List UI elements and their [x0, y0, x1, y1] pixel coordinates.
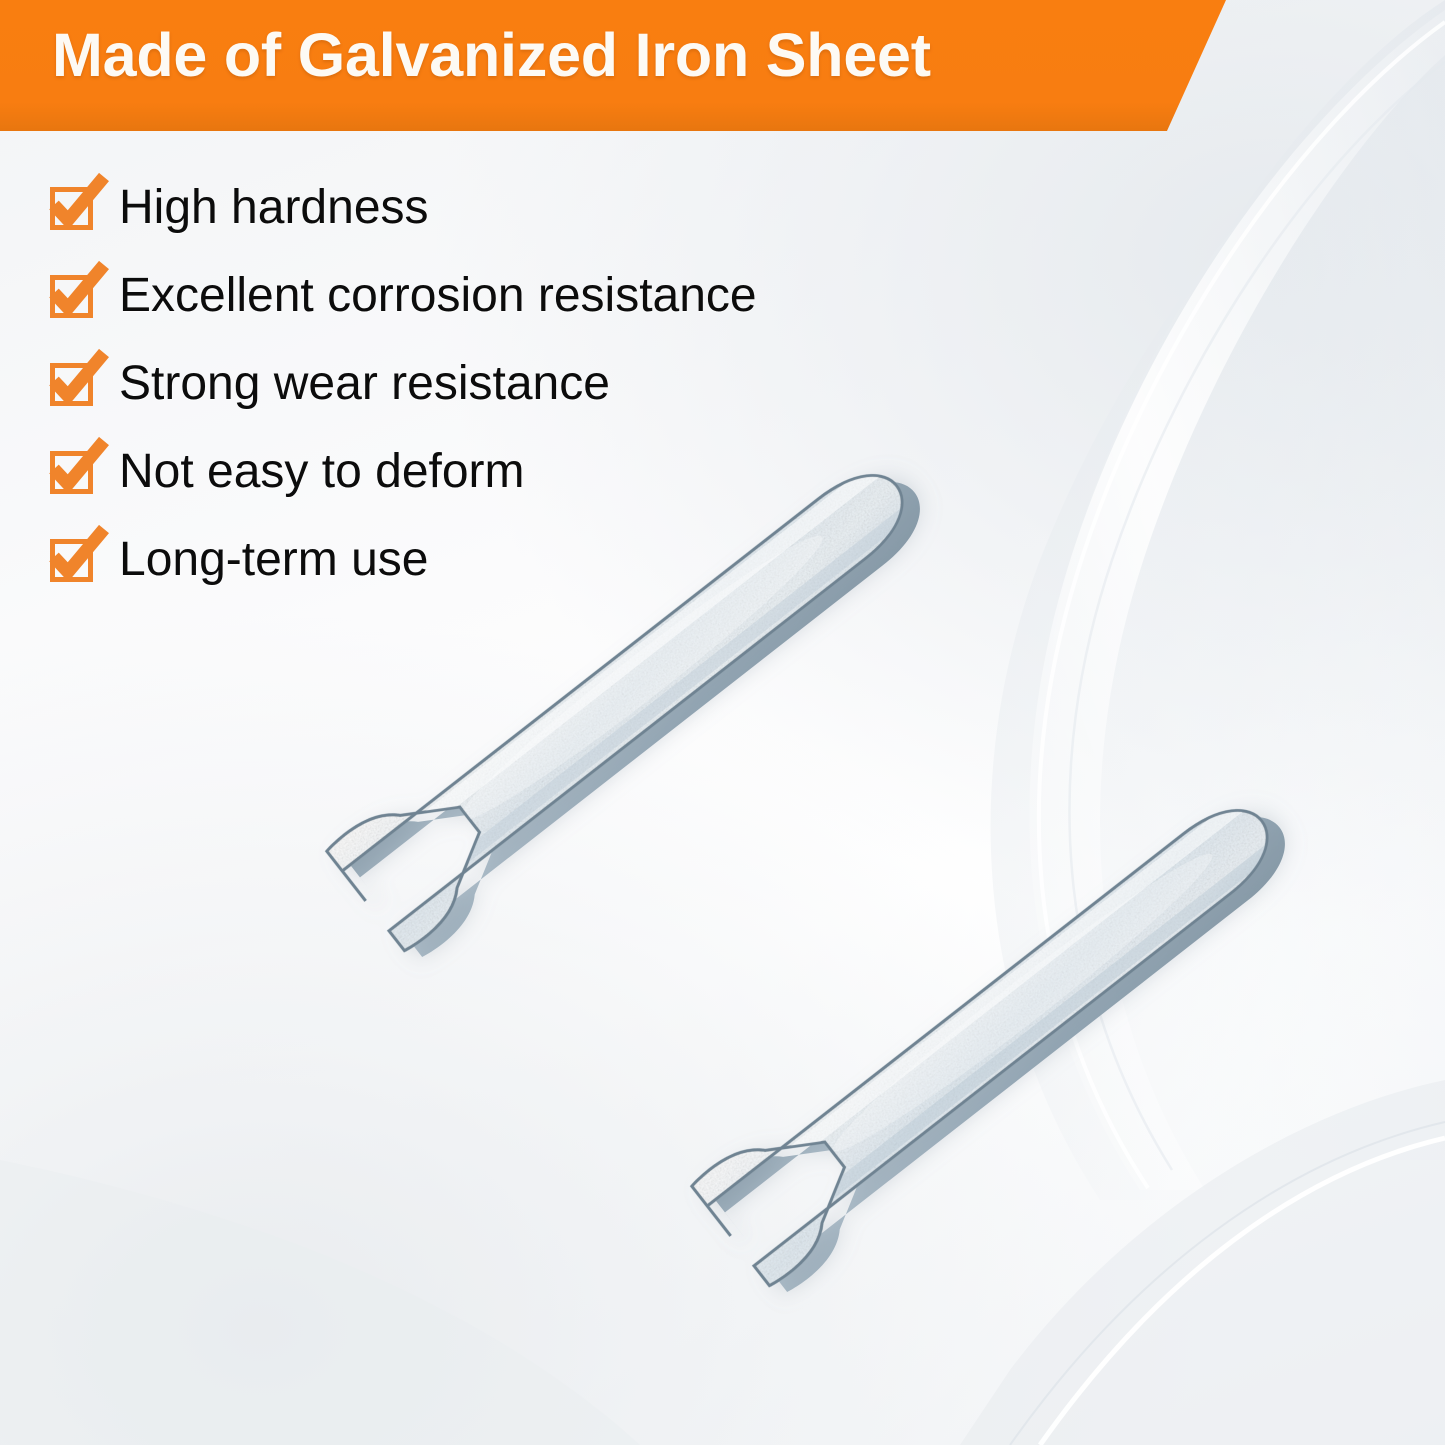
checkbox-checked-icon — [50, 363, 93, 406]
feature-label: Strong wear resistance — [119, 360, 610, 408]
feature-item: Long-term use — [50, 516, 757, 604]
feature-label: Long-term use — [119, 536, 429, 584]
checkbox-checked-icon — [50, 539, 93, 582]
page-title: Made of Galvanized Iron Sheet — [52, 20, 931, 90]
feature-label: Excellent corrosion resistance — [119, 272, 757, 320]
feature-item: Excellent corrosion resistance — [50, 252, 757, 340]
feature-item: Not easy to deform — [50, 428, 757, 516]
checkbox-checked-icon — [50, 275, 93, 318]
feature-item: High hardness — [50, 164, 757, 252]
feature-list: High hardness Excellent corrosion resist… — [50, 164, 757, 604]
checkbox-checked-icon — [50, 451, 93, 494]
feature-item: Strong wear resistance — [50, 340, 757, 428]
wrench-lower — [686, 757, 1328, 1303]
promo-image-canvas: Made of Galvanized Iron Sheet High hardn… — [0, 0, 1445, 1445]
feature-label: High hardness — [119, 184, 429, 232]
feature-label: Not easy to deform — [119, 448, 525, 496]
checkbox-checked-icon — [50, 187, 93, 230]
